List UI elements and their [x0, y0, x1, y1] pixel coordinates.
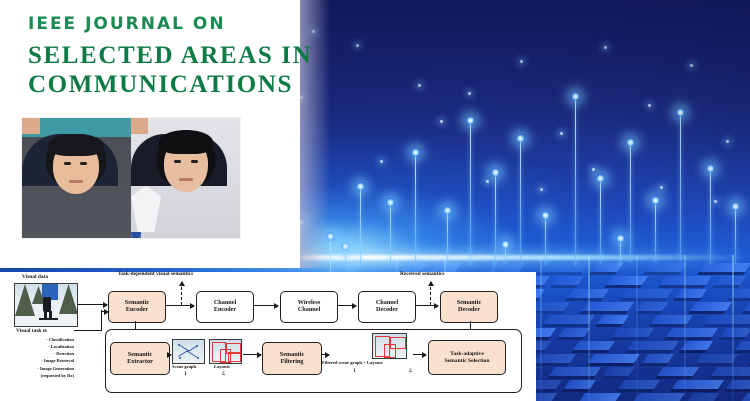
- eye-left: [64, 162, 71, 165]
- fringe-shape: [159, 130, 213, 154]
- filtered-symbol-g: 𝐢: [354, 368, 355, 373]
- block-semantic-filtering[interactable]: Semantic Filtering: [262, 342, 322, 375]
- scene-graph-thumbnail: [172, 339, 205, 364]
- received-semantics-label: Received semantics: [400, 271, 444, 277]
- block-label: Channel Encoder: [214, 300, 236, 314]
- arrow-task-dependent-semantics: [181, 282, 182, 305]
- block-label: Semantic Decoder: [457, 300, 481, 314]
- skier-body: [43, 297, 51, 312]
- arrow-task-to-encoder: [101, 311, 108, 312]
- eye-right: [80, 162, 87, 165]
- arrow-thumbs-to-filtering: [243, 354, 261, 355]
- mouth: [69, 180, 83, 183]
- arrow-encoder-to-chenc: [165, 305, 194, 306]
- list-item: - Localization: [4, 343, 74, 350]
- scene-graph-label: Scene graph: [172, 364, 196, 369]
- list-item: - Image Retrieval: [4, 357, 74, 364]
- task-dependent-semantics-label: Task-dependent visual semantics: [118, 271, 193, 277]
- arrow-to-task-adaptive: [413, 354, 426, 355]
- neck: [22, 118, 40, 134]
- journal-cover-graphic: IEEE JOURNAL ON SELECTED AREAS IN COMMUN…: [0, 0, 750, 401]
- layout-bbox: [228, 352, 241, 362]
- masthead-line-1: IEEE JOURNAL ON: [28, 16, 328, 33]
- avatar: [22, 118, 131, 238]
- visual-task-label: Visual task ᵫ: [16, 328, 47, 334]
- graph-node: [197, 357, 199, 359]
- block-label: Semantic Extractor: [127, 352, 153, 366]
- masthead-line-2: SELECTED AREAS IN: [28, 42, 328, 70]
- block-semantic-decoder[interactable]: Semantic Decoder: [440, 291, 498, 323]
- block-wireless-channel[interactable]: Wireless Channel: [280, 291, 338, 323]
- filtered-thumbnail: [372, 333, 407, 359]
- neck: [131, 118, 148, 134]
- arrow-received-semantics: [430, 282, 431, 305]
- block-semantic-encoder[interactable]: Semantic Encoder: [108, 291, 166, 323]
- journal-masthead: IEEE JOURNAL ON SELECTED AREAS IN COMMUN…: [28, 16, 328, 99]
- skis: [39, 318, 58, 320]
- arrow-filtering-out: [321, 354, 329, 355]
- layout-bbox: [384, 344, 396, 358]
- block-label: Semantic Encoder: [125, 300, 149, 314]
- task-connector-v: [101, 310, 102, 331]
- block-channel-encoder[interactable]: Channel Encoder: [196, 291, 254, 323]
- block-label: Channel Decoder: [376, 300, 398, 314]
- block-label: Semantic Filtering: [280, 352, 304, 366]
- layouts-label: Layouts: [214, 364, 230, 369]
- filtered-label: Filtered scene graph + Layouts: [322, 360, 383, 365]
- visual-data-thumbnail: [14, 283, 78, 327]
- necktie: [131, 232, 141, 238]
- system-diagram-panel: Visual data Visual task ᵫ - Classificati…: [0, 272, 536, 401]
- encoder-to-pipeline-link: [135, 321, 136, 330]
- masthead-line-3: COMMUNICATIONS: [28, 71, 328, 99]
- arrow-chenc-to-wireless: [253, 305, 278, 306]
- block-channel-decoder[interactable]: Channel Decoder: [358, 291, 416, 323]
- list-item: (requested by Rx): [4, 372, 74, 379]
- list-item: - Classification: [4, 336, 74, 343]
- decoder-to-pipeline-link: [470, 321, 471, 330]
- scene-graph-symbol: 𝐢: [185, 371, 186, 376]
- filtered-symbol-l: ℒ: [409, 368, 412, 374]
- arrow-extractor-out: [169, 354, 171, 355]
- task-connector-h: [74, 330, 102, 331]
- block-label: Task-adaptive Semantic Selection: [445, 351, 490, 364]
- eye-left: [174, 160, 181, 163]
- block-task-adaptive-selection[interactable]: Task-adaptive Semantic Selection: [428, 340, 506, 375]
- layouts-thumbnail: [209, 339, 242, 364]
- arrow-chdec-to-semdec: [415, 305, 438, 306]
- list-item: - Image Generation: [4, 365, 74, 372]
- graph-node: [179, 357, 181, 359]
- author-photos: [22, 118, 240, 238]
- avatar: [131, 118, 240, 238]
- block-label: Wireless Channel: [298, 300, 320, 314]
- arrow-wireless-to-chdec: [337, 305, 356, 306]
- visual-task-list: - Classification - Localization - Detect…: [4, 336, 74, 379]
- layouts-symbol: ℒ: [222, 371, 225, 377]
- visual-data-label: Visual data: [22, 274, 48, 280]
- list-item: - Detection: [4, 350, 74, 357]
- dress-shirt: [131, 186, 161, 232]
- arrow-data-to-encoder: [77, 304, 107, 305]
- block-semantic-extractor[interactable]: Semantic Extractor: [110, 342, 170, 375]
- fringe-shape: [48, 134, 104, 156]
- mouth: [179, 178, 193, 181]
- eye-right: [191, 160, 198, 163]
